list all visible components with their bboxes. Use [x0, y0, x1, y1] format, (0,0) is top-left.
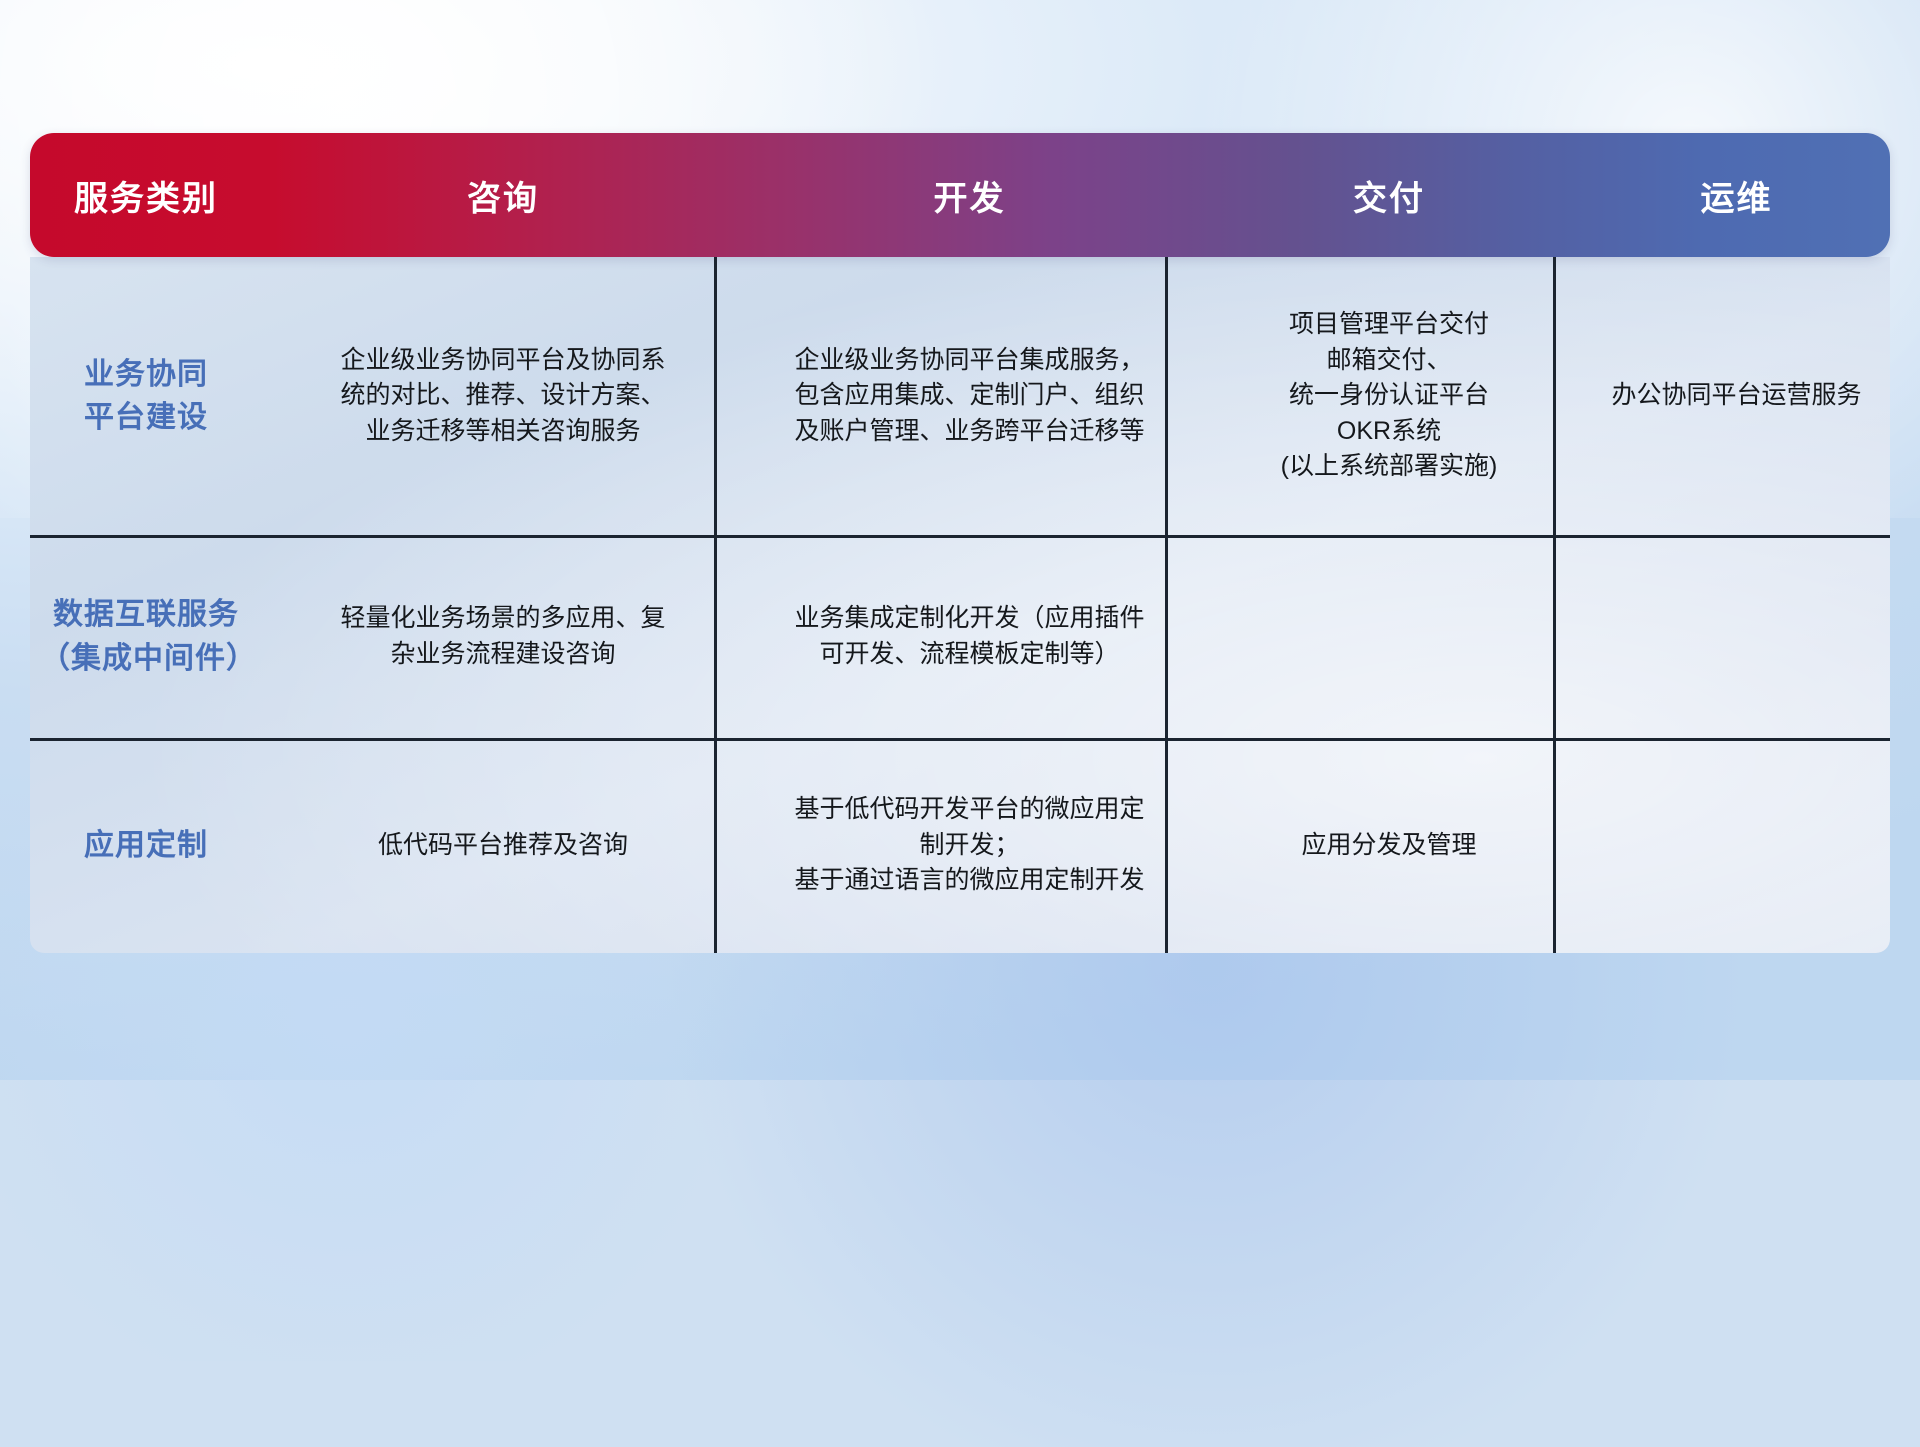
- cell-development: 企业级业务协同平台集成服务， 包含应用集成、定制门户、组织 及账户管理、业务跨平…: [744, 257, 1195, 535]
- cell-operations: [1583, 535, 1890, 738]
- row-category-label: 业务协同 平台建设: [30, 257, 262, 535]
- table-row: 应用定制 低代码平台推荐及咨询 基于低代码开发平台的微应用定 制开发； 基于通过…: [30, 738, 1890, 953]
- row-category-label: 数据互联服务 （集成中间件）: [30, 535, 262, 738]
- cell-consulting: 低代码平台推荐及咨询: [262, 738, 744, 953]
- column-header-development: 开发: [744, 171, 1195, 220]
- column-divider: [714, 257, 717, 953]
- table-body-grid: 业务协同 平台建设 企业级业务协同平台及协同系 统的对比、推荐、设计方案、 业务…: [30, 257, 1890, 953]
- cell-delivery: 应用分发及管理: [1195, 738, 1583, 953]
- row-category-label: 应用定制: [30, 738, 262, 953]
- column-header-delivery: 交付: [1195, 171, 1583, 220]
- cell-delivery: [1195, 535, 1583, 738]
- column-header-category: 服务类别: [30, 171, 262, 220]
- cell-operations: [1583, 738, 1890, 953]
- column-divider: [1553, 257, 1556, 953]
- table-header-row: 服务类别 咨询 开发 交付 运维: [30, 133, 1890, 257]
- cell-development: 业务集成定制化开发（应用插件 可开发、流程模板定制等）: [744, 535, 1195, 738]
- row-divider: [30, 738, 1890, 741]
- service-matrix-table: 服务类别 咨询 开发 交付 运维 业务协同 平台建设 企业级业务协同平台及协同系…: [30, 133, 1890, 953]
- cell-consulting: 轻量化业务场景的多应用、复 杂业务流程建设咨询: [262, 535, 744, 738]
- row-divider: [30, 535, 1890, 538]
- column-header-consulting: 咨询: [262, 171, 744, 220]
- column-header-operations: 运维: [1583, 171, 1890, 220]
- cell-delivery: 项目管理平台交付 邮箱交付、 统一身份认证平台 OKR系统 (以上系统部署实施): [1195, 257, 1583, 535]
- table-row: 业务协同 平台建设 企业级业务协同平台及协同系 统的对比、推荐、设计方案、 业务…: [30, 257, 1890, 535]
- column-divider: [1165, 257, 1168, 953]
- table-row: 数据互联服务 （集成中间件） 轻量化业务场景的多应用、复 杂业务流程建设咨询 业…: [30, 535, 1890, 738]
- cell-development: 基于低代码开发平台的微应用定 制开发； 基于通过语言的微应用定制开发: [744, 738, 1195, 953]
- cell-consulting: 企业级业务协同平台及协同系 统的对比、推荐、设计方案、 业务迁移等相关咨询服务: [262, 257, 744, 535]
- cell-operations: 办公协同平台运营服务: [1583, 257, 1890, 535]
